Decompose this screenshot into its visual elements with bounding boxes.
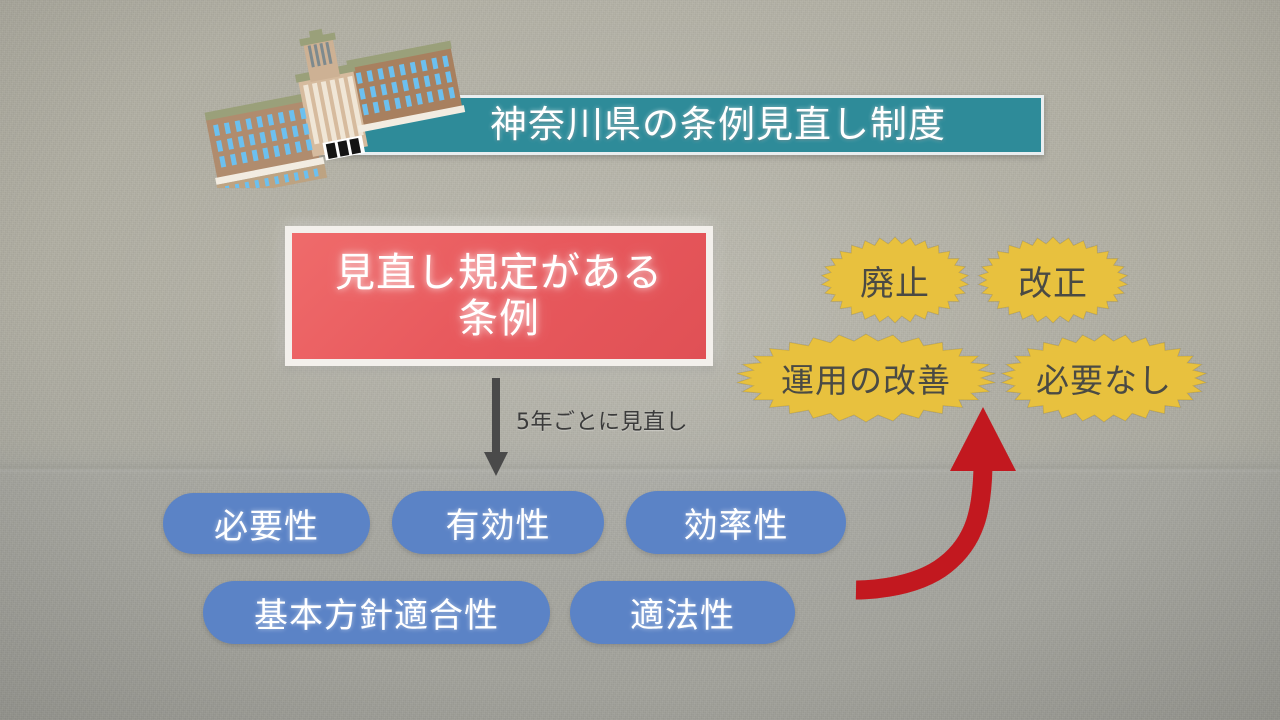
background-horizon-seam — [0, 462, 1280, 474]
criteria-pill[interactable]: 効率性 — [626, 491, 846, 554]
source-ordinance-label: 見直し規定がある 条例 — [335, 250, 663, 343]
review-cycle-caption: 5年ごとに見直し — [516, 404, 688, 436]
page-title: 神奈川県の条例見直し制度 — [490, 99, 1035, 151]
source-ordinance-box: 見直し規定がある 条例 — [285, 226, 713, 366]
criteria-pill[interactable]: 基本方針適合性 — [203, 581, 550, 644]
outcome-badge[interactable]: 廃止 — [820, 236, 970, 324]
infographic-slide: 神奈川県の条例見直し制度 — [0, 0, 1280, 720]
outcome-badge[interactable]: 改正 — [977, 236, 1129, 324]
criteria-pill[interactable]: 有効性 — [392, 491, 604, 554]
criteria-pill[interactable]: 適法性 — [570, 581, 795, 644]
government-building-icon — [196, 28, 472, 188]
criteria-pill[interactable]: 必要性 — [163, 493, 370, 554]
down-arrow-icon — [483, 378, 509, 478]
curved-up-arrow-icon — [840, 405, 1040, 600]
